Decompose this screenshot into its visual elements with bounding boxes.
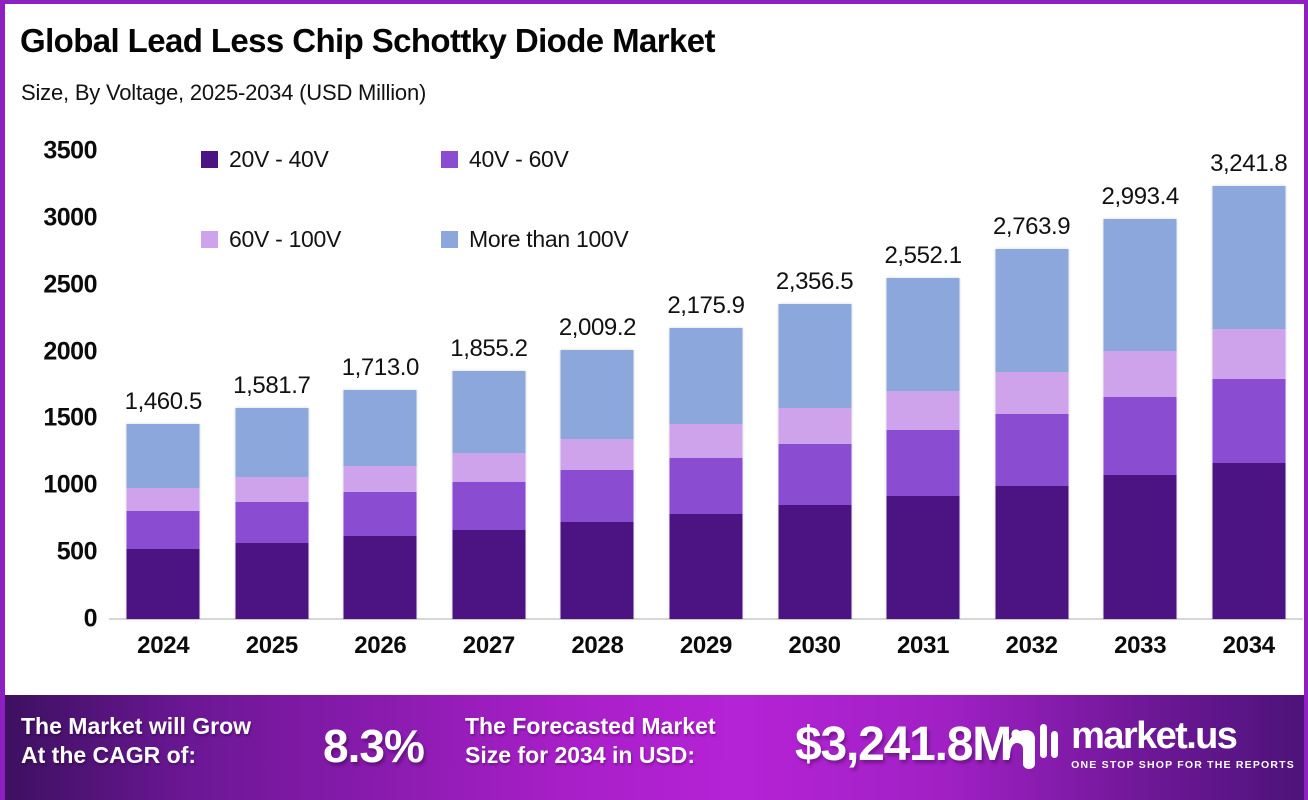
bar-segment[interactable] bbox=[778, 444, 851, 505]
bar-value-label: 2,993.4 bbox=[1102, 183, 1179, 211]
x-axis-tick: 2032 bbox=[977, 632, 1086, 660]
y-axis-tick: 1500 bbox=[11, 404, 97, 433]
bar-segment[interactable] bbox=[887, 278, 960, 391]
x-axis-tick: 2030 bbox=[760, 632, 869, 660]
bar-segment[interactable] bbox=[669, 458, 742, 514]
legend-swatch-icon bbox=[441, 151, 458, 168]
forecast-label: The Forecasted Market Size for 2034 in U… bbox=[465, 712, 716, 770]
bar-segment[interactable] bbox=[995, 249, 1068, 371]
logo-name: market.us bbox=[1071, 717, 1295, 755]
bar-segment[interactable] bbox=[1212, 329, 1285, 379]
bar-segment[interactable] bbox=[127, 424, 200, 489]
x-axis-tick: 2026 bbox=[326, 632, 435, 660]
stacked-bar[interactable] bbox=[561, 350, 634, 619]
x-axis-tick: 2034 bbox=[1194, 632, 1303, 660]
bar-segment[interactable] bbox=[452, 482, 525, 530]
bar-value-label: 2,009.2 bbox=[559, 314, 636, 342]
x-axis-tick: 2025 bbox=[218, 632, 327, 660]
stacked-bar[interactable] bbox=[995, 249, 1068, 619]
bar-segment[interactable] bbox=[995, 372, 1068, 415]
y-axis-tick: 2500 bbox=[11, 270, 97, 299]
bar-segment[interactable] bbox=[887, 496, 960, 619]
forecast-label-line1: The Forecasted Market bbox=[465, 712, 716, 741]
x-axis-tick: 2029 bbox=[652, 632, 761, 660]
bar-value-label: 1,581.7 bbox=[233, 372, 310, 400]
bar-value-label: 2,763.9 bbox=[993, 213, 1070, 241]
cagr-label-line2: At the CAGR of: bbox=[21, 741, 251, 770]
logo-text-block: market.us ONE STOP SHOP FOR THE REPORTS bbox=[1071, 717, 1295, 771]
bar-segment[interactable] bbox=[127, 549, 200, 619]
stacked-bar[interactable] bbox=[127, 424, 200, 619]
bar-value-label: 1,855.2 bbox=[450, 335, 527, 363]
bar-segment[interactable] bbox=[452, 453, 525, 481]
bar-segment[interactable] bbox=[235, 477, 308, 501]
x-axis-tick: 2028 bbox=[543, 632, 652, 660]
market-us-mark-icon bbox=[1001, 718, 1059, 770]
y-axis-tick: 3500 bbox=[11, 137, 97, 166]
bar-segment[interactable] bbox=[1212, 463, 1285, 619]
bar-segment[interactable] bbox=[344, 390, 417, 466]
stats-footer: The Market will Grow At the CAGR of: 8.3… bbox=[5, 695, 1308, 800]
cagr-label: The Market will Grow At the CAGR of: bbox=[21, 712, 251, 770]
stacked-bar[interactable] bbox=[1212, 186, 1285, 619]
bar-column bbox=[869, 144, 978, 619]
cagr-label-line1: The Market will Grow bbox=[21, 712, 251, 741]
x-axis-tick: 2024 bbox=[109, 632, 218, 660]
bar-segment[interactable] bbox=[561, 522, 634, 619]
bar-value-label: 2,356.5 bbox=[776, 268, 853, 296]
bar-value-label: 1,460.5 bbox=[125, 388, 202, 416]
cagr-value: 8.3% bbox=[323, 719, 424, 773]
logo-tagline: ONE STOP SHOP FOR THE REPORTS bbox=[1071, 759, 1295, 771]
bar-segment[interactable] bbox=[995, 414, 1068, 486]
bar-segment[interactable] bbox=[452, 371, 525, 453]
bar-segment[interactable] bbox=[778, 304, 851, 408]
bar-segment[interactable] bbox=[235, 408, 308, 478]
bar-segment[interactable] bbox=[561, 439, 634, 470]
y-axis-tick: 0 bbox=[11, 605, 97, 634]
y-axis-tick: 3000 bbox=[11, 203, 97, 232]
bar-column bbox=[1194, 144, 1303, 619]
legend-label: More than 100V bbox=[469, 226, 628, 253]
legend-item[interactable]: 20V - 40V bbox=[201, 146, 329, 173]
legend-item[interactable]: 40V - 60V bbox=[441, 146, 569, 173]
bar-segment[interactable] bbox=[778, 408, 851, 444]
legend-swatch-icon bbox=[201, 231, 218, 248]
bar-segment[interactable] bbox=[561, 470, 634, 522]
bar-column bbox=[435, 144, 544, 619]
stacked-bar[interactable] bbox=[235, 408, 308, 619]
bar-value-label: 3,241.8 bbox=[1210, 150, 1287, 178]
chart-plot-area: 0500100015002000250030003500 20V - 40V40… bbox=[5, 4, 1308, 694]
x-axis-tick: 2027 bbox=[435, 632, 544, 660]
stacked-bar[interactable] bbox=[887, 278, 960, 619]
bar-segment[interactable] bbox=[1104, 475, 1177, 619]
legend-item[interactable]: More than 100V bbox=[441, 226, 628, 253]
bar-column bbox=[543, 144, 652, 619]
stacked-bar[interactable] bbox=[344, 390, 417, 619]
bar-segment[interactable] bbox=[1212, 186, 1285, 329]
bar-value-label: 2,175.9 bbox=[667, 292, 744, 320]
bar-column bbox=[760, 144, 869, 619]
bar-segment[interactable] bbox=[235, 543, 308, 619]
y-axis-tick: 500 bbox=[11, 538, 97, 567]
bar-value-label: 1,713.0 bbox=[342, 354, 419, 382]
legend-label: 40V - 60V bbox=[469, 146, 569, 173]
stacked-bar[interactable] bbox=[778, 304, 851, 619]
bar-segment[interactable] bbox=[561, 350, 634, 439]
bar-column bbox=[1086, 144, 1195, 619]
y-axis: 0500100015002000250030003500 bbox=[5, 4, 97, 694]
bar-column bbox=[652, 144, 761, 619]
y-axis-tick: 2000 bbox=[11, 337, 97, 366]
bar-segment[interactable] bbox=[1104, 397, 1177, 475]
bar-segment[interactable] bbox=[127, 488, 200, 510]
forecast-value: $3,241.8M bbox=[795, 717, 1011, 772]
bar-segment[interactable] bbox=[127, 511, 200, 549]
stacked-bar[interactable] bbox=[669, 328, 742, 619]
stacked-bar[interactable] bbox=[452, 371, 525, 619]
bar-segment[interactable] bbox=[1212, 379, 1285, 463]
bar-segment[interactable] bbox=[669, 424, 742, 457]
stacked-bar[interactable] bbox=[1104, 219, 1177, 619]
bar-segment[interactable] bbox=[344, 466, 417, 492]
y-axis-tick: 1000 bbox=[11, 471, 97, 500]
bar-segment[interactable] bbox=[995, 486, 1068, 619]
bar-segment[interactable] bbox=[778, 505, 851, 619]
bar-segment[interactable] bbox=[344, 536, 417, 618]
bar-segment[interactable] bbox=[1104, 351, 1177, 397]
legend-label: 20V - 40V bbox=[229, 146, 329, 173]
x-axis-tick: 2031 bbox=[869, 632, 978, 660]
forecast-label-line2: Size for 2034 in USD: bbox=[465, 741, 716, 770]
bar-segment[interactable] bbox=[887, 430, 960, 496]
bar-column bbox=[109, 144, 218, 619]
bar-segment[interactable] bbox=[669, 514, 742, 619]
infographic-frame: Global Lead Less Chip Schottky Diode Mar… bbox=[0, 0, 1308, 800]
x-axis-tick: 2033 bbox=[1086, 632, 1195, 660]
bar-segment[interactable] bbox=[887, 391, 960, 430]
legend-swatch-icon bbox=[441, 231, 458, 248]
bar-segment[interactable] bbox=[452, 530, 525, 619]
bar-value-label: 2,552.1 bbox=[884, 242, 961, 270]
legend-swatch-icon bbox=[201, 151, 218, 168]
legend-label: 60V - 100V bbox=[229, 226, 341, 253]
bar-segment[interactable] bbox=[344, 492, 417, 536]
bar-segment[interactable] bbox=[669, 328, 742, 424]
market-us-logo[interactable]: market.us ONE STOP SHOP FOR THE REPORTS bbox=[1001, 717, 1295, 771]
bar-segment[interactable] bbox=[235, 502, 308, 543]
bar-segment[interactable] bbox=[1104, 219, 1177, 351]
legend-item[interactable]: 60V - 100V bbox=[201, 226, 341, 253]
